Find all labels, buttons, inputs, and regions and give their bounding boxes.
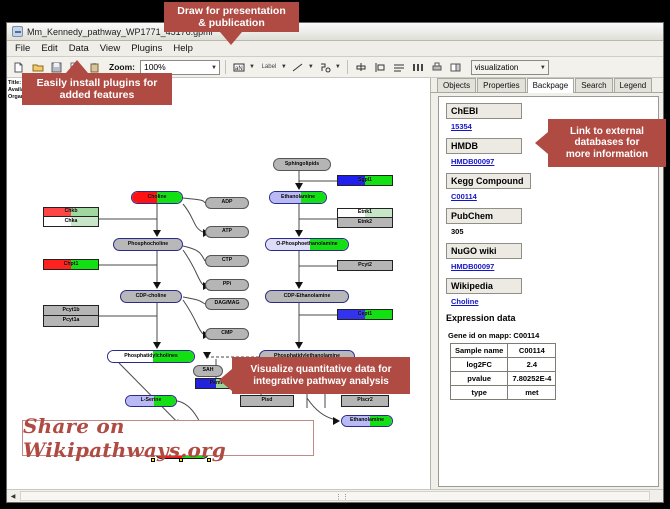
links-callout: Link to external databases for more info… — [548, 119, 666, 167]
node-label: CDP-choline — [136, 294, 167, 299]
zoom-value: 100% — [144, 62, 166, 72]
draw-callout-line2: & publication — [198, 17, 265, 29]
node-pcyt1b[interactable]: Pcyt1b — [43, 305, 99, 316]
node-chpt1[interactable]: Chpt1 — [43, 259, 99, 270]
chevron-down-icon-2: ▼ — [540, 65, 546, 71]
cell-value: met — [508, 386, 556, 400]
table-row: type met — [451, 386, 556, 400]
node-ethanolamine-top[interactable]: Ethanolamine — [269, 191, 327, 204]
visualize-callout: Visualize quantitative data for integrat… — [232, 357, 410, 394]
tab-search[interactable]: Search — [575, 78, 612, 92]
chevron-down-icon: ▼ — [211, 65, 217, 71]
section-heading-chebi: ChEBI — [446, 103, 522, 119]
cell-key: Sample name — [451, 344, 508, 358]
node-sphingolipids[interactable]: Sphingolipids — [273, 158, 331, 171]
tab-legend[interactable]: Legend — [614, 78, 653, 92]
node-plscr2[interactable]: Plscr2 — [341, 395, 389, 407]
node-label: Pcyt2 — [358, 263, 372, 268]
node-atp[interactable]: ATP — [205, 226, 249, 238]
plugins-callout-line2: added features — [60, 89, 135, 101]
node-label: Sphingolipids — [285, 162, 319, 167]
node-label: ATP — [222, 229, 232, 234]
draw-callout-line1: Draw for presentation — [177, 5, 286, 17]
node-pisd[interactable]: Pisd — [240, 395, 294, 407]
node-sgpl1[interactable]: Sgpl1 — [337, 175, 393, 186]
node-label: Pisd — [262, 398, 273, 403]
side-panel-tabs: Objects Properties Backpage Search Legen… — [431, 78, 663, 93]
title-bar: Mm_Kennedy_pathway_WP1771_45176.gpml — [7, 23, 663, 41]
menu-item-plugins[interactable]: Plugins — [126, 42, 167, 55]
node-label: ADP — [222, 200, 233, 205]
node-label: Phosphatidylcholines — [124, 354, 178, 359]
node-label: CMP — [221, 331, 233, 336]
link-kegg[interactable]: C00114 — [451, 192, 651, 201]
app-icon — [12, 26, 23, 37]
node-label: Ethanolamine — [350, 418, 384, 423]
node-label: Etnk1 — [358, 210, 372, 215]
links-callout-line3: more information — [566, 149, 648, 161]
node-label: O-Phosphoethanolamine — [276, 242, 337, 247]
share-callout-text: Share on Wikipathways.org — [23, 414, 313, 462]
node-choline-top[interactable]: Choline — [131, 191, 183, 204]
node-cdp-choline[interactable]: CDP-choline — [120, 290, 182, 303]
visualization-combo[interactable]: visualization ▼ — [471, 60, 549, 75]
value-pubchem: 305 — [451, 227, 651, 236]
distribute-icon[interactable] — [410, 59, 427, 76]
svg-text:aN: aN — [235, 66, 243, 72]
node-l-serine-left[interactable]: L-Serine — [125, 395, 177, 407]
datanode-icon[interactable]: aN — [231, 59, 248, 76]
section-heading-wikipedia: Wikipedia — [446, 278, 522, 294]
line-dropdown-icon[interactable]: ▼ — [308, 64, 314, 70]
node-ethanolamine-right[interactable]: Ethanolamine — [341, 415, 393, 427]
common-width-icon[interactable] — [391, 59, 408, 76]
node-etnk1[interactable]: Etnk1 — [337, 208, 393, 218]
node-chkb[interactable]: Chkb — [43, 207, 99, 217]
node-label: CTP — [222, 258, 232, 263]
section-heading-hmdb: HMDB — [446, 138, 522, 154]
tab-backpage[interactable]: Backpage — [527, 78, 575, 93]
plugins-callout-line1: Easily install plugins for — [37, 77, 158, 89]
canvas-hscrollbar[interactable]: ◀ ⋮⋮ — [7, 489, 663, 502]
node-phosphocholine[interactable]: Phosphocholine — [113, 238, 183, 251]
menu-item-data[interactable]: Data — [64, 42, 94, 55]
node-pcyt1a[interactable]: Pcyt1a — [43, 316, 99, 327]
cell-key: type — [451, 386, 508, 400]
node-label: Chkb — [65, 209, 78, 214]
order-icon[interactable] — [448, 59, 465, 76]
node-cdp-ethanolamine[interactable]: CDP-Ethanolamine — [265, 290, 349, 303]
node-ppi[interactable]: PPi — [205, 279, 249, 291]
visualization-value: visualization — [475, 63, 519, 72]
node-label: Chka — [65, 219, 78, 224]
node-label: Ethanolamine — [281, 195, 315, 200]
plugins-callout-arrow-icon — [66, 60, 88, 73]
node-cmp[interactable]: CMP — [205, 328, 249, 340]
menu-item-help[interactable]: Help — [168, 42, 198, 55]
anchor-dropdown-icon[interactable]: ▼ — [335, 64, 341, 70]
status-bar: | Gene database: ...m_Derby_20120602.bri… — [7, 502, 663, 503]
node-label: L-Serine — [141, 398, 162, 403]
section-heading-pubchem: PubChem — [446, 208, 522, 224]
plugins-callout: Easily install plugins for added feature… — [22, 73, 172, 105]
node-label: Chpt1 — [64, 262, 79, 267]
node-label: PPi — [223, 282, 231, 287]
links-callout-line2: databases for — [574, 137, 639, 149]
zoom-label: Zoom: — [109, 62, 135, 72]
node-label: Pcyt1b — [62, 308, 79, 313]
scroll-left-arrow[interactable]: ◀ — [7, 493, 19, 500]
visualize-callout-arrow-icon — [219, 369, 232, 391]
expression-data-title: Expression data — [446, 313, 651, 323]
table-row: Sample name C00114 — [451, 344, 556, 358]
label-dropdown-icon[interactable]: ▼ — [281, 64, 287, 70]
link-nugo[interactable]: HMDB00097 — [451, 262, 651, 271]
menu-item-file[interactable]: File — [10, 42, 35, 55]
toolbar-separator-2 — [347, 60, 348, 74]
node-label: SAH — [203, 368, 214, 373]
print-icon[interactable] — [429, 59, 446, 76]
cell-value: C00114 — [508, 344, 556, 358]
links-callout-line1: Link to external — [570, 126, 644, 138]
draw-callout-arrow-icon — [220, 32, 242, 45]
node-label: Plscr2 — [357, 398, 373, 403]
visualize-callout-line2: integrative pathway analysis — [253, 376, 389, 388]
node-label: Etnk2 — [358, 220, 372, 225]
table-row: pvalue 7.80252E-4 — [451, 372, 556, 386]
expression-table: Sample name C00114 log2FC 2.4 pvalue 7.8… — [450, 343, 556, 400]
node-label: Cept1 — [358, 312, 372, 317]
node-etnk2[interactable]: Etnk2 — [337, 218, 393, 228]
node-label: Phosphocholine — [128, 242, 168, 247]
section-heading-nugo: NuGO wiki — [446, 243, 522, 259]
toolbar-separator — [225, 60, 226, 74]
scroll-thumb[interactable]: ⋮⋮ — [335, 493, 349, 501]
table-row: log2FC 2.4 — [451, 358, 556, 372]
share-callout: Share on Wikipathways.org — [22, 420, 314, 456]
section-heading-kegg: Kegg Compound — [446, 173, 531, 189]
align-center-icon[interactable] — [353, 59, 370, 76]
links-callout-arrow-icon — [535, 132, 548, 154]
node-cept1[interactable]: Cept1 — [337, 309, 393, 320]
draw-callout: Draw for presentation & publication — [164, 2, 299, 32]
menu-item-edit[interactable]: Edit — [36, 42, 62, 55]
node-dagmag[interactable]: DAG/MAG — [205, 298, 249, 310]
tab-objects[interactable]: Objects — [437, 78, 476, 92]
node-label: Sgpl1 — [358, 178, 372, 183]
visualize-callout-line1: Visualize quantitative data for — [251, 364, 392, 376]
cell-value: 2.4 — [508, 358, 556, 372]
node-label: CDP-Ethanolamine — [284, 294, 331, 299]
tab-properties[interactable]: Properties — [477, 78, 525, 92]
node-label: DAG/MAG — [214, 301, 239, 306]
cell-value: 7.80252E-4 — [508, 372, 556, 386]
node-pcyt2[interactable]: Pcyt2 — [337, 260, 393, 271]
align-left-icon[interactable] — [372, 59, 389, 76]
datanode-dropdown-icon[interactable]: ▼ — [249, 64, 255, 70]
menu-bar: File Edit Data View Plugins Help — [7, 41, 663, 57]
label-tool-button[interactable]: Label — [258, 59, 280, 76]
gene-id-line: Gene id on mapp: C00114 — [448, 331, 651, 340]
node-label: Pcyt1a — [63, 318, 80, 323]
anchor-icon[interactable] — [317, 59, 334, 76]
link-wikipedia[interactable]: Choline — [451, 297, 651, 306]
node-o-phosphoethanolamine[interactable]: O-Phosphoethanolamine — [265, 238, 349, 251]
node-chka[interactable]: Chka — [43, 217, 99, 227]
node-adp[interactable]: ADP — [205, 197, 249, 209]
cell-key: log2FC — [451, 358, 508, 372]
node-ctp[interactable]: CTP — [205, 255, 249, 267]
node-label: Choline — [147, 195, 166, 200]
line-icon[interactable] — [290, 59, 307, 76]
node-phosphatidylcholines[interactable]: Phosphatidylcholines — [107, 350, 195, 363]
menu-item-view[interactable]: View — [95, 42, 125, 55]
cell-key: pvalue — [451, 372, 508, 386]
